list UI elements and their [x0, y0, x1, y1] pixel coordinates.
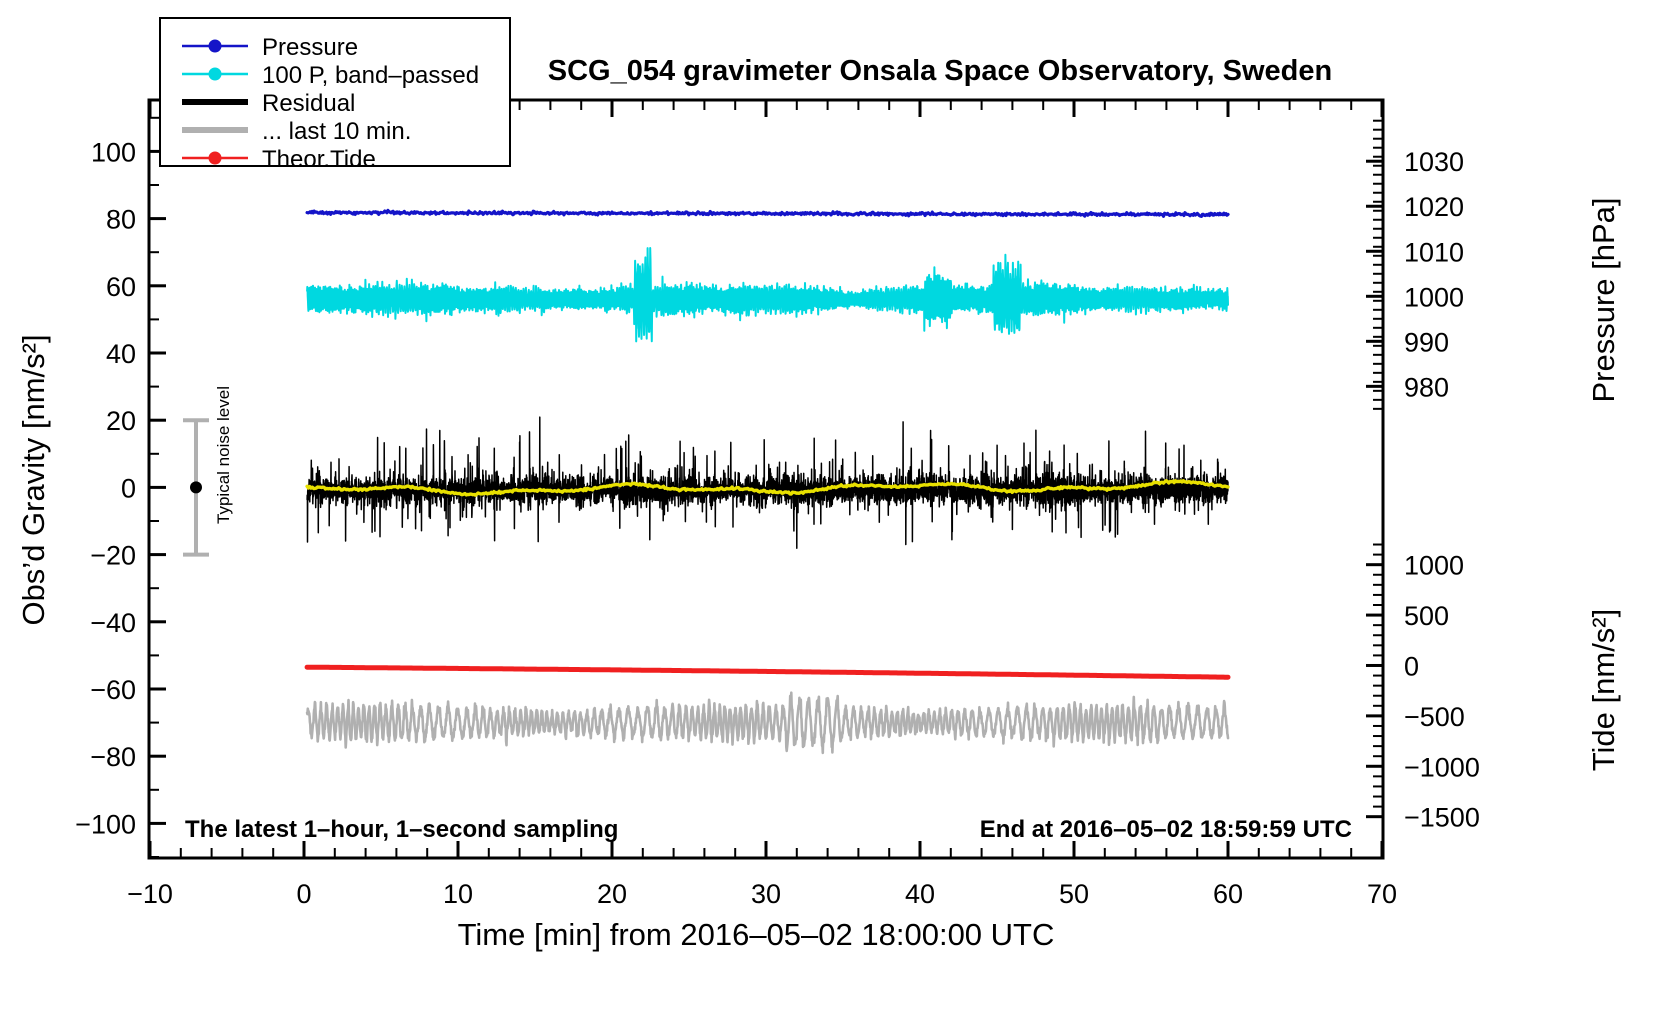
- y-tick-label-right-tide: 0: [1404, 651, 1419, 681]
- y-tick-label-right-pressure: 1030: [1404, 147, 1464, 177]
- y-tick-label-left: 20: [106, 406, 136, 436]
- y-tick-label-left: −60: [90, 675, 136, 705]
- x-axis-title: Time [min] from 2016–05–02 18:00:00 UTC: [458, 917, 1055, 952]
- x-tick-label: 0: [296, 879, 311, 909]
- y-tick-label-right-tide: −1000: [1404, 752, 1480, 782]
- y-tick-label-right-pressure: 1020: [1404, 192, 1464, 222]
- legend-swatch-marker: [209, 40, 222, 53]
- y-tick-label-right-pressure: 1000: [1404, 282, 1464, 312]
- y-tick-label-right-tide: 1000: [1404, 551, 1464, 581]
- legend-swatch-marker: [209, 68, 222, 81]
- y-axis-title-left: Obs’d Gravity [nm/s²]: [16, 334, 51, 625]
- y-tick-label-left: 40: [106, 339, 136, 369]
- legend-item-label: Pressure: [262, 34, 358, 61]
- gravimeter-timeseries-chart: −10010203040506070 100806040200−20−40−60…: [0, 0, 1660, 1020]
- legend-item-label: Theor.Tide: [262, 146, 376, 173]
- x-tick-label: 60: [1213, 879, 1243, 909]
- legend-item-label: Residual: [262, 90, 355, 117]
- x-tick-label: 30: [751, 879, 781, 909]
- y-tick-label-left: −80: [90, 742, 136, 772]
- x-tick-label: 40: [905, 879, 935, 909]
- x-tick-label: 70: [1367, 879, 1397, 909]
- y-tick-label-left: 60: [106, 272, 136, 302]
- y-tick-label-left: 80: [106, 205, 136, 235]
- x-tick-label: −10: [127, 879, 173, 909]
- x-tick-label: 20: [597, 879, 627, 909]
- y-axis-title-right-pressure: Pressure [hPa]: [1586, 197, 1621, 402]
- y-tick-label-right-pressure: 1010: [1404, 237, 1464, 267]
- typical-noise-level-label: Typical noise level: [214, 386, 234, 529]
- legend: Pressure100 P, band–passedResidual... la…: [160, 18, 510, 173]
- y-tick-label-right-tide: −1500: [1404, 803, 1480, 833]
- y-tick-label-left: −20: [90, 541, 136, 571]
- annotation-bottom-right: End at 2016–05–02 18:59:59 UTC: [980, 816, 1352, 843]
- y-tick-label-right-tide: 500: [1404, 601, 1449, 631]
- y-tick-label-left: −100: [75, 809, 136, 839]
- y-tick-label-left: 0: [121, 473, 136, 503]
- legend-item-label: 100 P, band–passed: [262, 62, 479, 89]
- legend-item-label: ... last 10 min.: [262, 118, 411, 145]
- x-tick-label: 10: [443, 879, 473, 909]
- legend-swatch-marker: [209, 152, 222, 165]
- y-tick-label-right-tide: −500: [1404, 702, 1465, 732]
- page-title: SCG_054 gravimeter Onsala Space Observat…: [548, 55, 1332, 87]
- y-tick-label-right-pressure: 980: [1404, 372, 1449, 402]
- y-tick-label-left: 100: [91, 137, 136, 167]
- y-tick-label-left: −40: [90, 608, 136, 638]
- x-tick-label: 50: [1059, 879, 1089, 909]
- y-axis-title-right-tide: Tide [nm/s²]: [1586, 609, 1621, 772]
- annotation-bottom-left: The latest 1–hour, 1–second sampling: [185, 816, 618, 843]
- chart-page: −10010203040506070 100806040200−20−40−60…: [0, 0, 1660, 1020]
- y-tick-label-right-pressure: 990: [1404, 327, 1449, 357]
